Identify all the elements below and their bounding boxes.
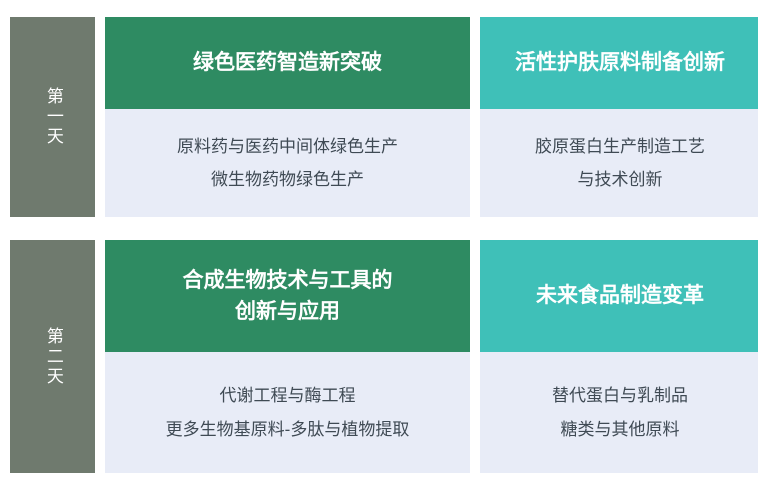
- schedule-row-day-2: 第二天 合成生物技术与工具的 创新与应用 代谢工程与酶工程 更多生物基原料-多肽…: [10, 240, 750, 473]
- card-day-2-topic-1-title-line-1: 合成生物技术与工具的: [183, 265, 393, 297]
- day-label-day-2-text: 第二天: [40, 327, 65, 387]
- card-day-2-topic-1[interactable]: 合成生物技术与工具的 创新与应用 代谢工程与酶工程 更多生物基原料-多肽与植物提…: [105, 240, 470, 473]
- card-day-1-topic-1[interactable]: 绿色医药智造新突破 原料药与医药中间体绿色生产 微生物药物绿色生产: [105, 17, 470, 217]
- card-day-1-topic-1-line-1: 原料药与医药中间体绿色生产: [177, 130, 398, 163]
- card-day-1-topic-2-title: 活性护肤原料制备创新: [480, 17, 758, 109]
- card-day-2-topic-1-line-1: 代谢工程与酶工程: [220, 379, 356, 412]
- card-day-2-topic-1-title: 合成生物技术与工具的 创新与应用: [105, 240, 470, 352]
- schedule-grid: 第一天 绿色医药智造新突破 原料药与医药中间体绿色生产 微生物药物绿色生产 活性…: [0, 0, 758, 491]
- card-day-2-topic-1-body: 代谢工程与酶工程 更多生物基原料-多肽与植物提取: [105, 352, 470, 473]
- card-day-2-topic-2-line-1: 替代蛋白与乳制品: [552, 379, 688, 412]
- day-label-day-1-text: 第一天: [40, 87, 65, 147]
- schedule-row-day-1: 第一天 绿色医药智造新突破 原料药与医药中间体绿色生产 微生物药物绿色生产 活性…: [10, 17, 750, 217]
- card-day-2-topic-2[interactable]: 未来食品制造变革 替代蛋白与乳制品 糖类与其他原料: [480, 240, 758, 473]
- card-day-1-topic-2-line-1: 胶原蛋白生产制造工艺: [535, 130, 705, 163]
- card-day-1-topic-1-line-2: 微生物药物绿色生产: [211, 163, 364, 196]
- card-day-2-topic-1-line-2: 更多生物基原料-多肽与植物提取: [166, 413, 410, 446]
- card-day-1-topic-2[interactable]: 活性护肤原料制备创新 胶原蛋白生产制造工艺 与技术创新: [480, 17, 758, 217]
- card-day-1-topic-1-body: 原料药与医药中间体绿色生产 微生物药物绿色生产: [105, 109, 470, 217]
- card-day-2-topic-2-line-2: 糖类与其他原料: [561, 413, 680, 446]
- card-day-2-topic-2-title: 未来食品制造变革: [480, 240, 758, 352]
- day-label-day-2: 第二天: [10, 240, 95, 473]
- card-day-1-topic-1-title: 绿色医药智造新突破: [105, 17, 470, 109]
- card-day-2-topic-1-title-line-2: 创新与应用: [183, 296, 393, 328]
- card-day-1-topic-2-line-2: 与技术创新: [578, 163, 663, 196]
- card-day-1-topic-2-body: 胶原蛋白生产制造工艺 与技术创新: [480, 109, 758, 217]
- day-label-day-1: 第一天: [10, 17, 95, 217]
- card-day-2-topic-2-body: 替代蛋白与乳制品 糖类与其他原料: [480, 352, 758, 473]
